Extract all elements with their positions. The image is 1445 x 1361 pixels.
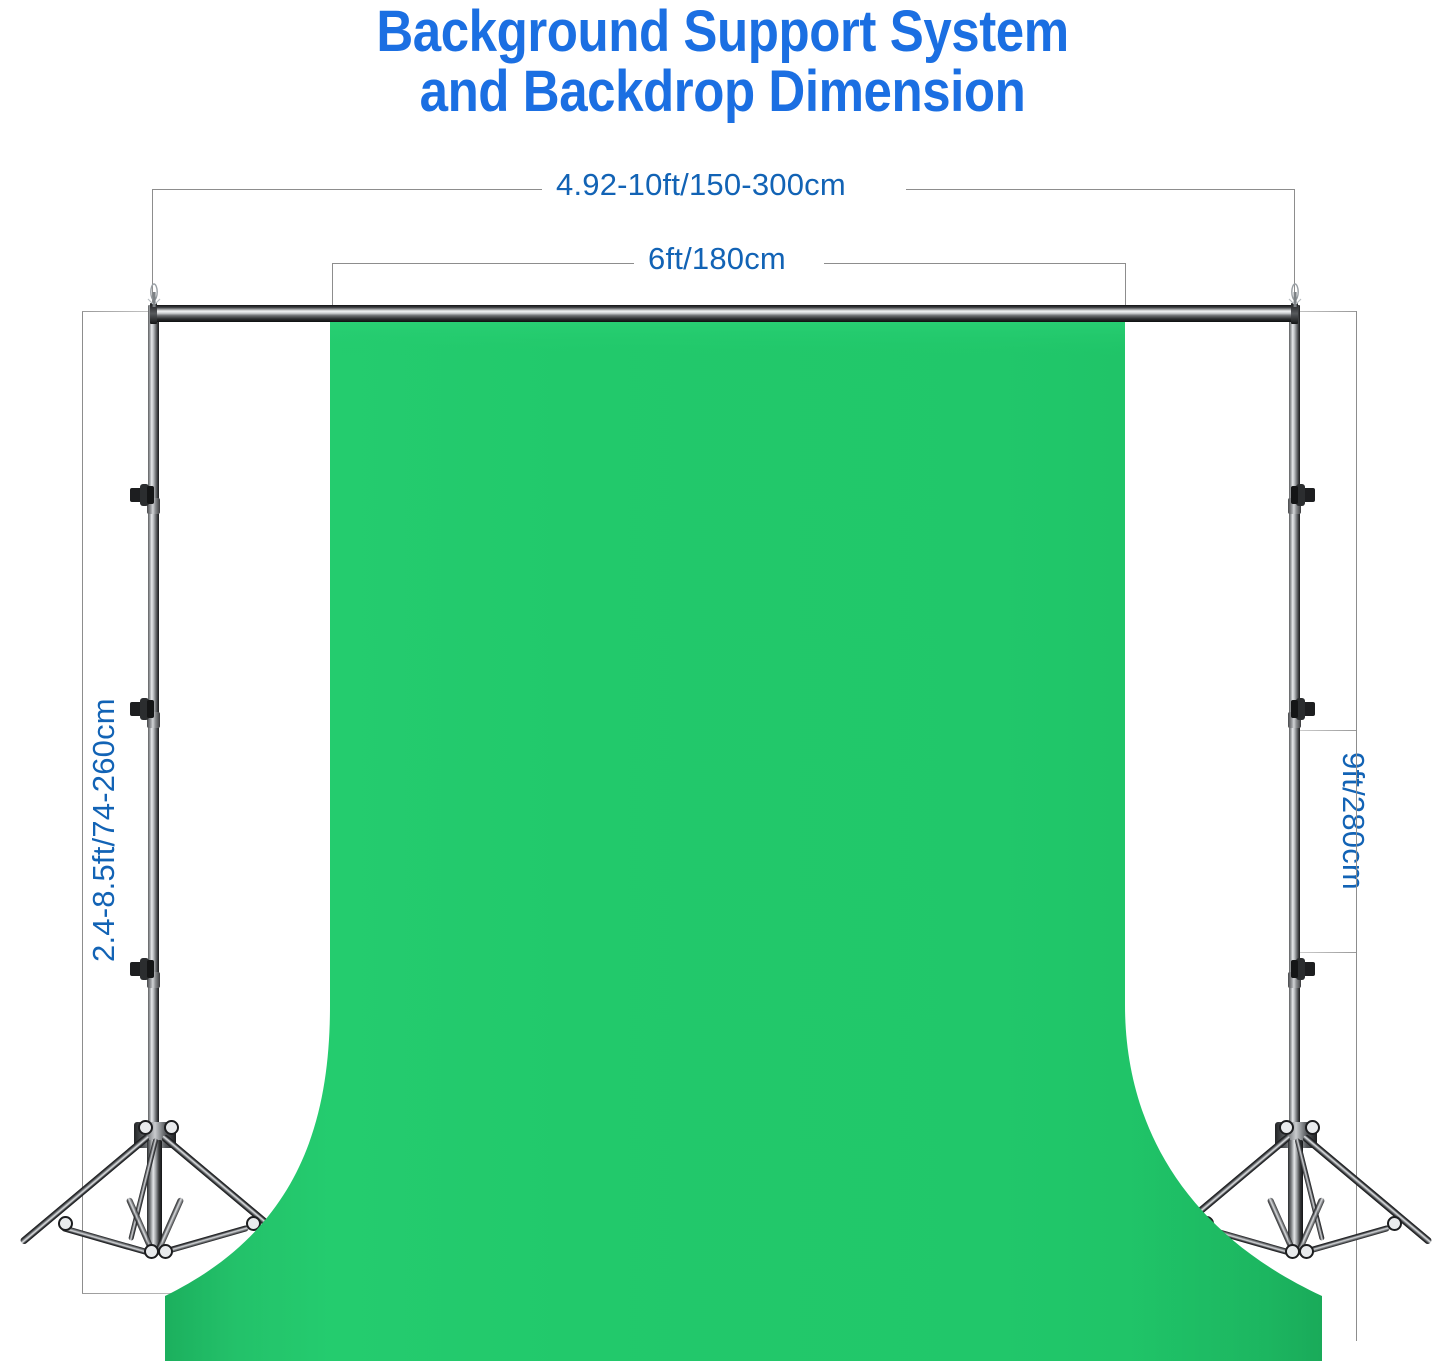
left-crossbar-screw-icon bbox=[145, 283, 163, 309]
backdrop-left-shade bbox=[165, 1005, 330, 1361]
product-dimension-diagram: Background Support System and Backdrop D… bbox=[0, 0, 1445, 1361]
green-screen-backdrop bbox=[0, 0, 1445, 1361]
right-crossbar-screw-icon bbox=[1286, 283, 1304, 309]
backdrop-right-shade bbox=[1125, 1005, 1322, 1361]
telescoping-crossbar bbox=[152, 305, 1297, 322]
